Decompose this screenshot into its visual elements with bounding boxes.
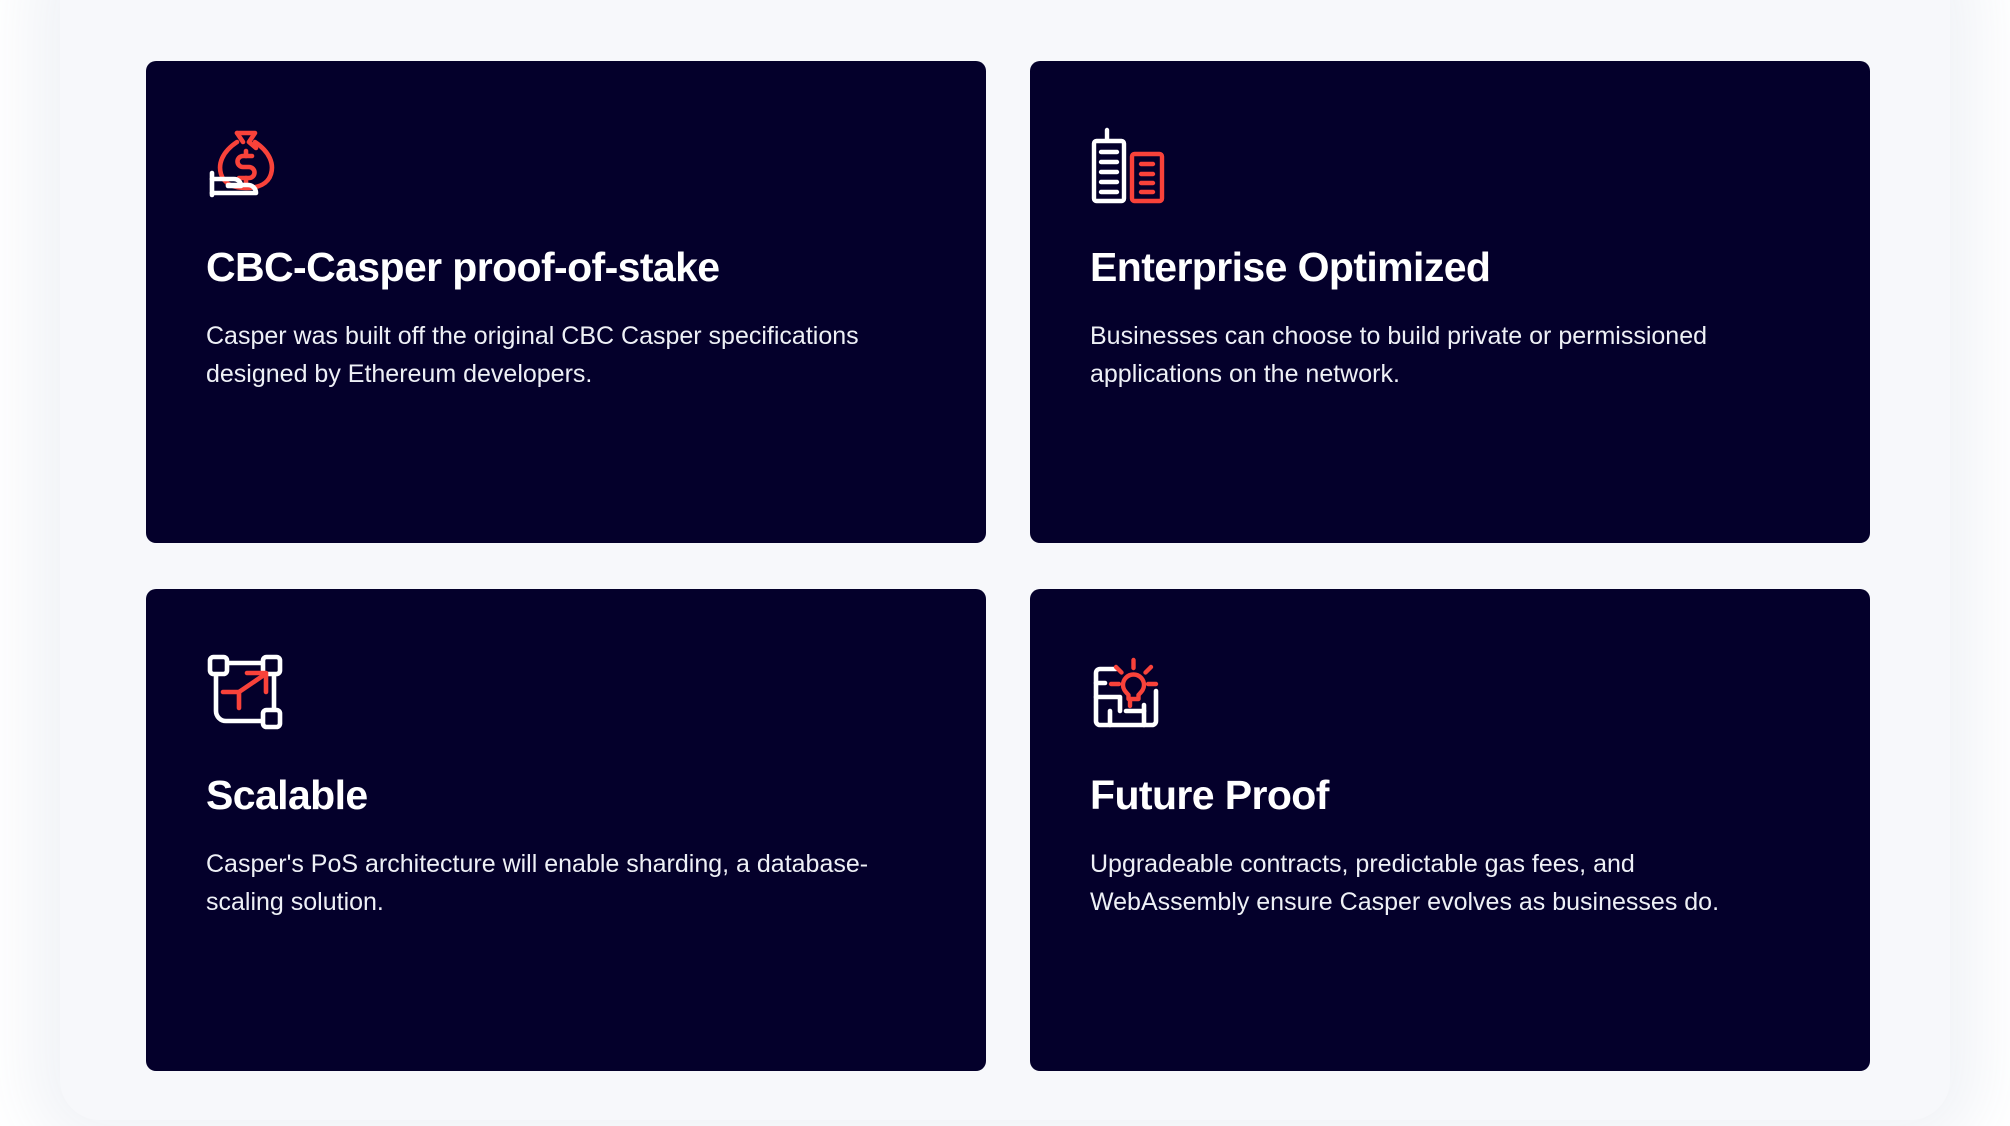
feature-card-title: Enterprise Optimized (1090, 245, 1810, 291)
feature-card-body: Casper's PoS architecture will enable sh… (206, 845, 886, 921)
feature-card-enterprise-optimized[interactable]: Enterprise Optimized Businesses can choo… (1030, 61, 1870, 543)
feature-card-title: Future Proof (1090, 773, 1810, 819)
feature-grid-page: CBC-Casper proof-of-stake Casper was bui… (0, 0, 2010, 1126)
feature-card-body: Casper was built off the original CBC Ca… (206, 317, 886, 393)
feature-card-grid: CBC-Casper proof-of-stake Casper was bui… (146, 61, 1870, 1071)
office-buildings-icon (1090, 125, 1170, 205)
feature-card-title: Scalable (206, 773, 926, 819)
feature-card-body: Businesses can choose to build private o… (1090, 317, 1770, 393)
scale-expand-arrow-icon (206, 653, 286, 733)
feature-card-cbc-casper[interactable]: CBC-Casper proof-of-stake Casper was bui… (146, 61, 986, 543)
feature-card-scalable[interactable]: Scalable Casper's PoS architecture will … (146, 589, 986, 1071)
feature-card-body: Upgradeable contracts, predictable gas f… (1090, 845, 1770, 921)
feature-card-title: CBC-Casper proof-of-stake (206, 245, 926, 291)
money-bag-hand-icon (206, 125, 286, 205)
feature-card-future-proof[interactable]: Future Proof Upgradeable contracts, pred… (1030, 589, 1870, 1071)
lightbulb-blueprint-icon (1090, 653, 1170, 733)
